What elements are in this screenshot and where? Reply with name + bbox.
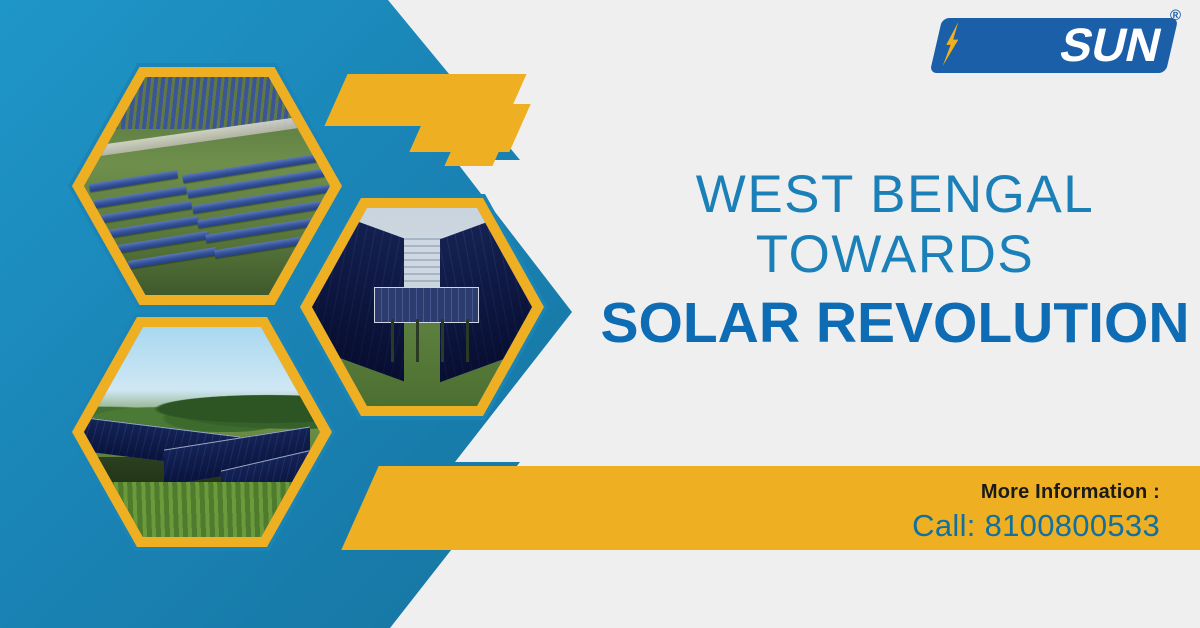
promotional-banner: BENSUN ® WEST BENGAL TOWARDS SOLAR REVOL… bbox=[0, 0, 1200, 628]
contact-block: More Information : Call: 8100800533 bbox=[740, 478, 1160, 546]
logo-text-ben: BEN bbox=[956, 18, 1067, 71]
logo-text-sun: SUN bbox=[1055, 18, 1166, 71]
headline-block: WEST BENGAL TOWARDS SOLAR REVOLUTION bbox=[600, 165, 1190, 357]
hex-photo-field-array bbox=[68, 313, 336, 551]
headline-line-1: WEST BENGAL bbox=[600, 165, 1190, 225]
headline-line-3: SOLAR REVOLUTION bbox=[600, 289, 1190, 357]
contact-number[interactable]: Call: 8100800533 bbox=[740, 507, 1160, 546]
registered-trademark-icon: ® bbox=[1170, 8, 1181, 23]
bensun-logo: BENSUN ® bbox=[936, 14, 1172, 76]
contact-label: More Information : bbox=[740, 478, 1160, 507]
logo-wordmark: BENSUN ® bbox=[929, 18, 1178, 73]
headline-line-2: TOWARDS bbox=[600, 225, 1190, 285]
